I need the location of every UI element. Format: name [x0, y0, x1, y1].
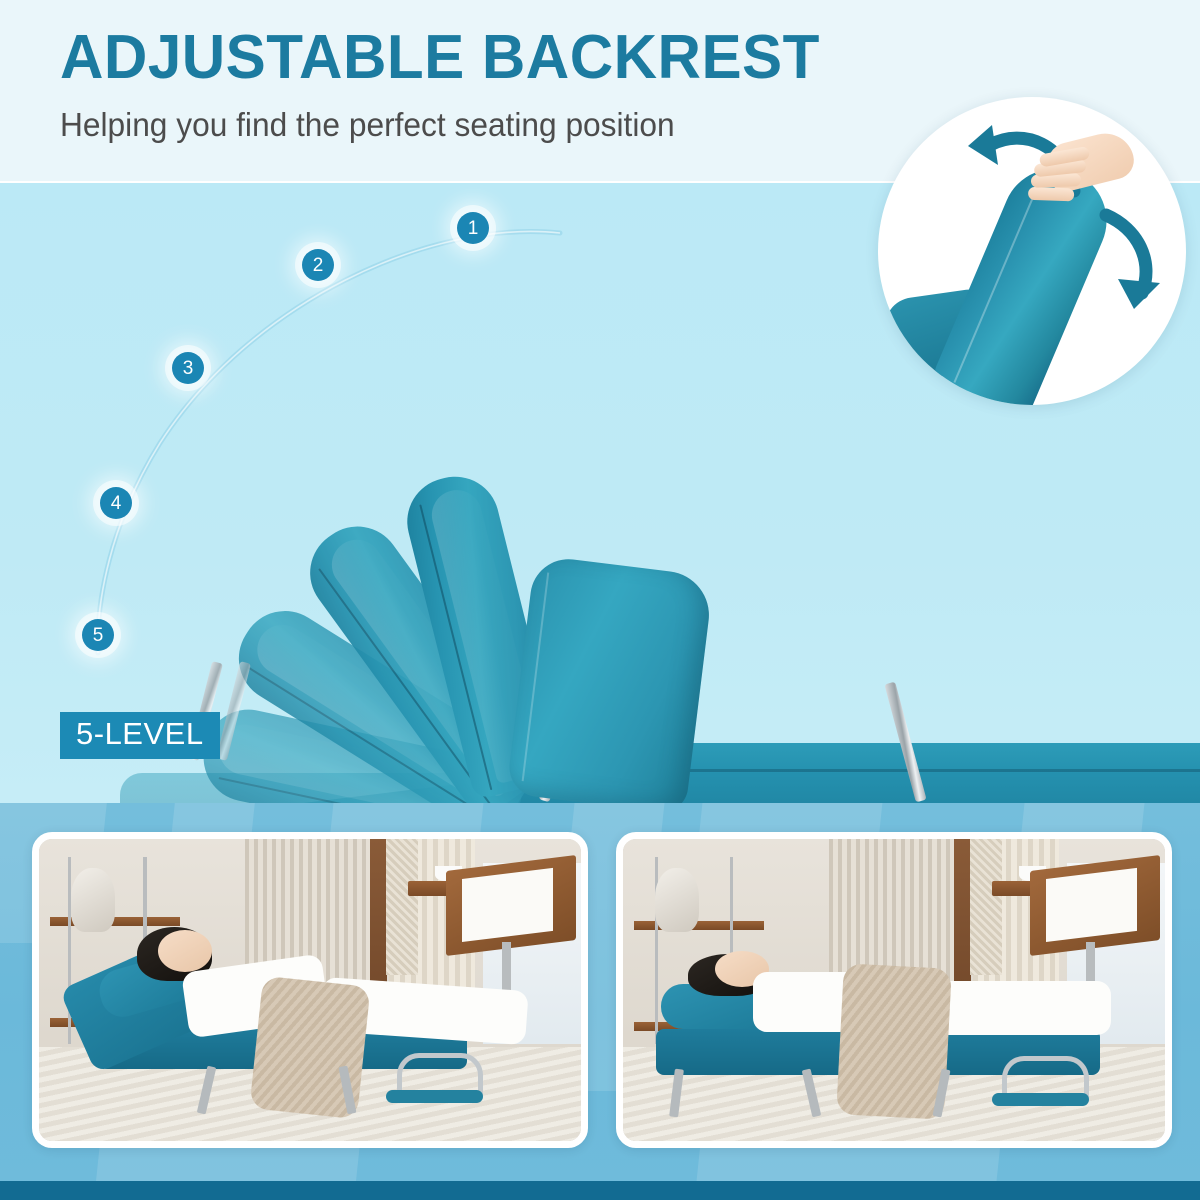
statue-decor: [71, 868, 115, 932]
knit-throw: [836, 963, 952, 1119]
shelf-plank: [634, 921, 764, 930]
tray-page: [1045, 868, 1136, 942]
lifestyle-photo-flat: [616, 832, 1172, 1148]
woven-curtain: [386, 839, 419, 975]
rotate-arrow-down-icon: [1088, 205, 1180, 315]
recline-level-badge-2: 2: [302, 249, 334, 281]
loose-back-pillow: [506, 555, 714, 803]
footer-band: [0, 1181, 1200, 1200]
footrest-pad: [386, 1090, 484, 1104]
page-title: ADJUSTABLE BACKREST: [60, 27, 820, 89]
footrest-pad: [992, 1093, 1090, 1107]
photo-scene: [39, 839, 581, 1141]
recline-level-badge-3: 3: [172, 352, 204, 384]
statue-decor: [655, 868, 699, 932]
lifestyle-photo-reclined: [32, 832, 588, 1148]
hand-finger: [1028, 187, 1074, 202]
level-tag: 5-LEVEL: [60, 712, 220, 759]
detail-inset-circle: [878, 97, 1186, 405]
lifestyle-photo-section: [0, 803, 1200, 1182]
recline-level-badge-4: 4: [100, 487, 132, 519]
laptop-tray: [446, 855, 576, 956]
tray-page: [461, 868, 552, 942]
woven-curtain: [970, 839, 1003, 975]
person-head: [158, 930, 212, 972]
laptop-tray: [1030, 855, 1160, 956]
page-subtitle: Helping you find the perfect seating pos…: [60, 108, 675, 141]
recline-level-badge-5: 5: [82, 619, 114, 651]
photo-scene: [623, 839, 1165, 1141]
recline-level-badge-1: 1: [457, 212, 489, 244]
